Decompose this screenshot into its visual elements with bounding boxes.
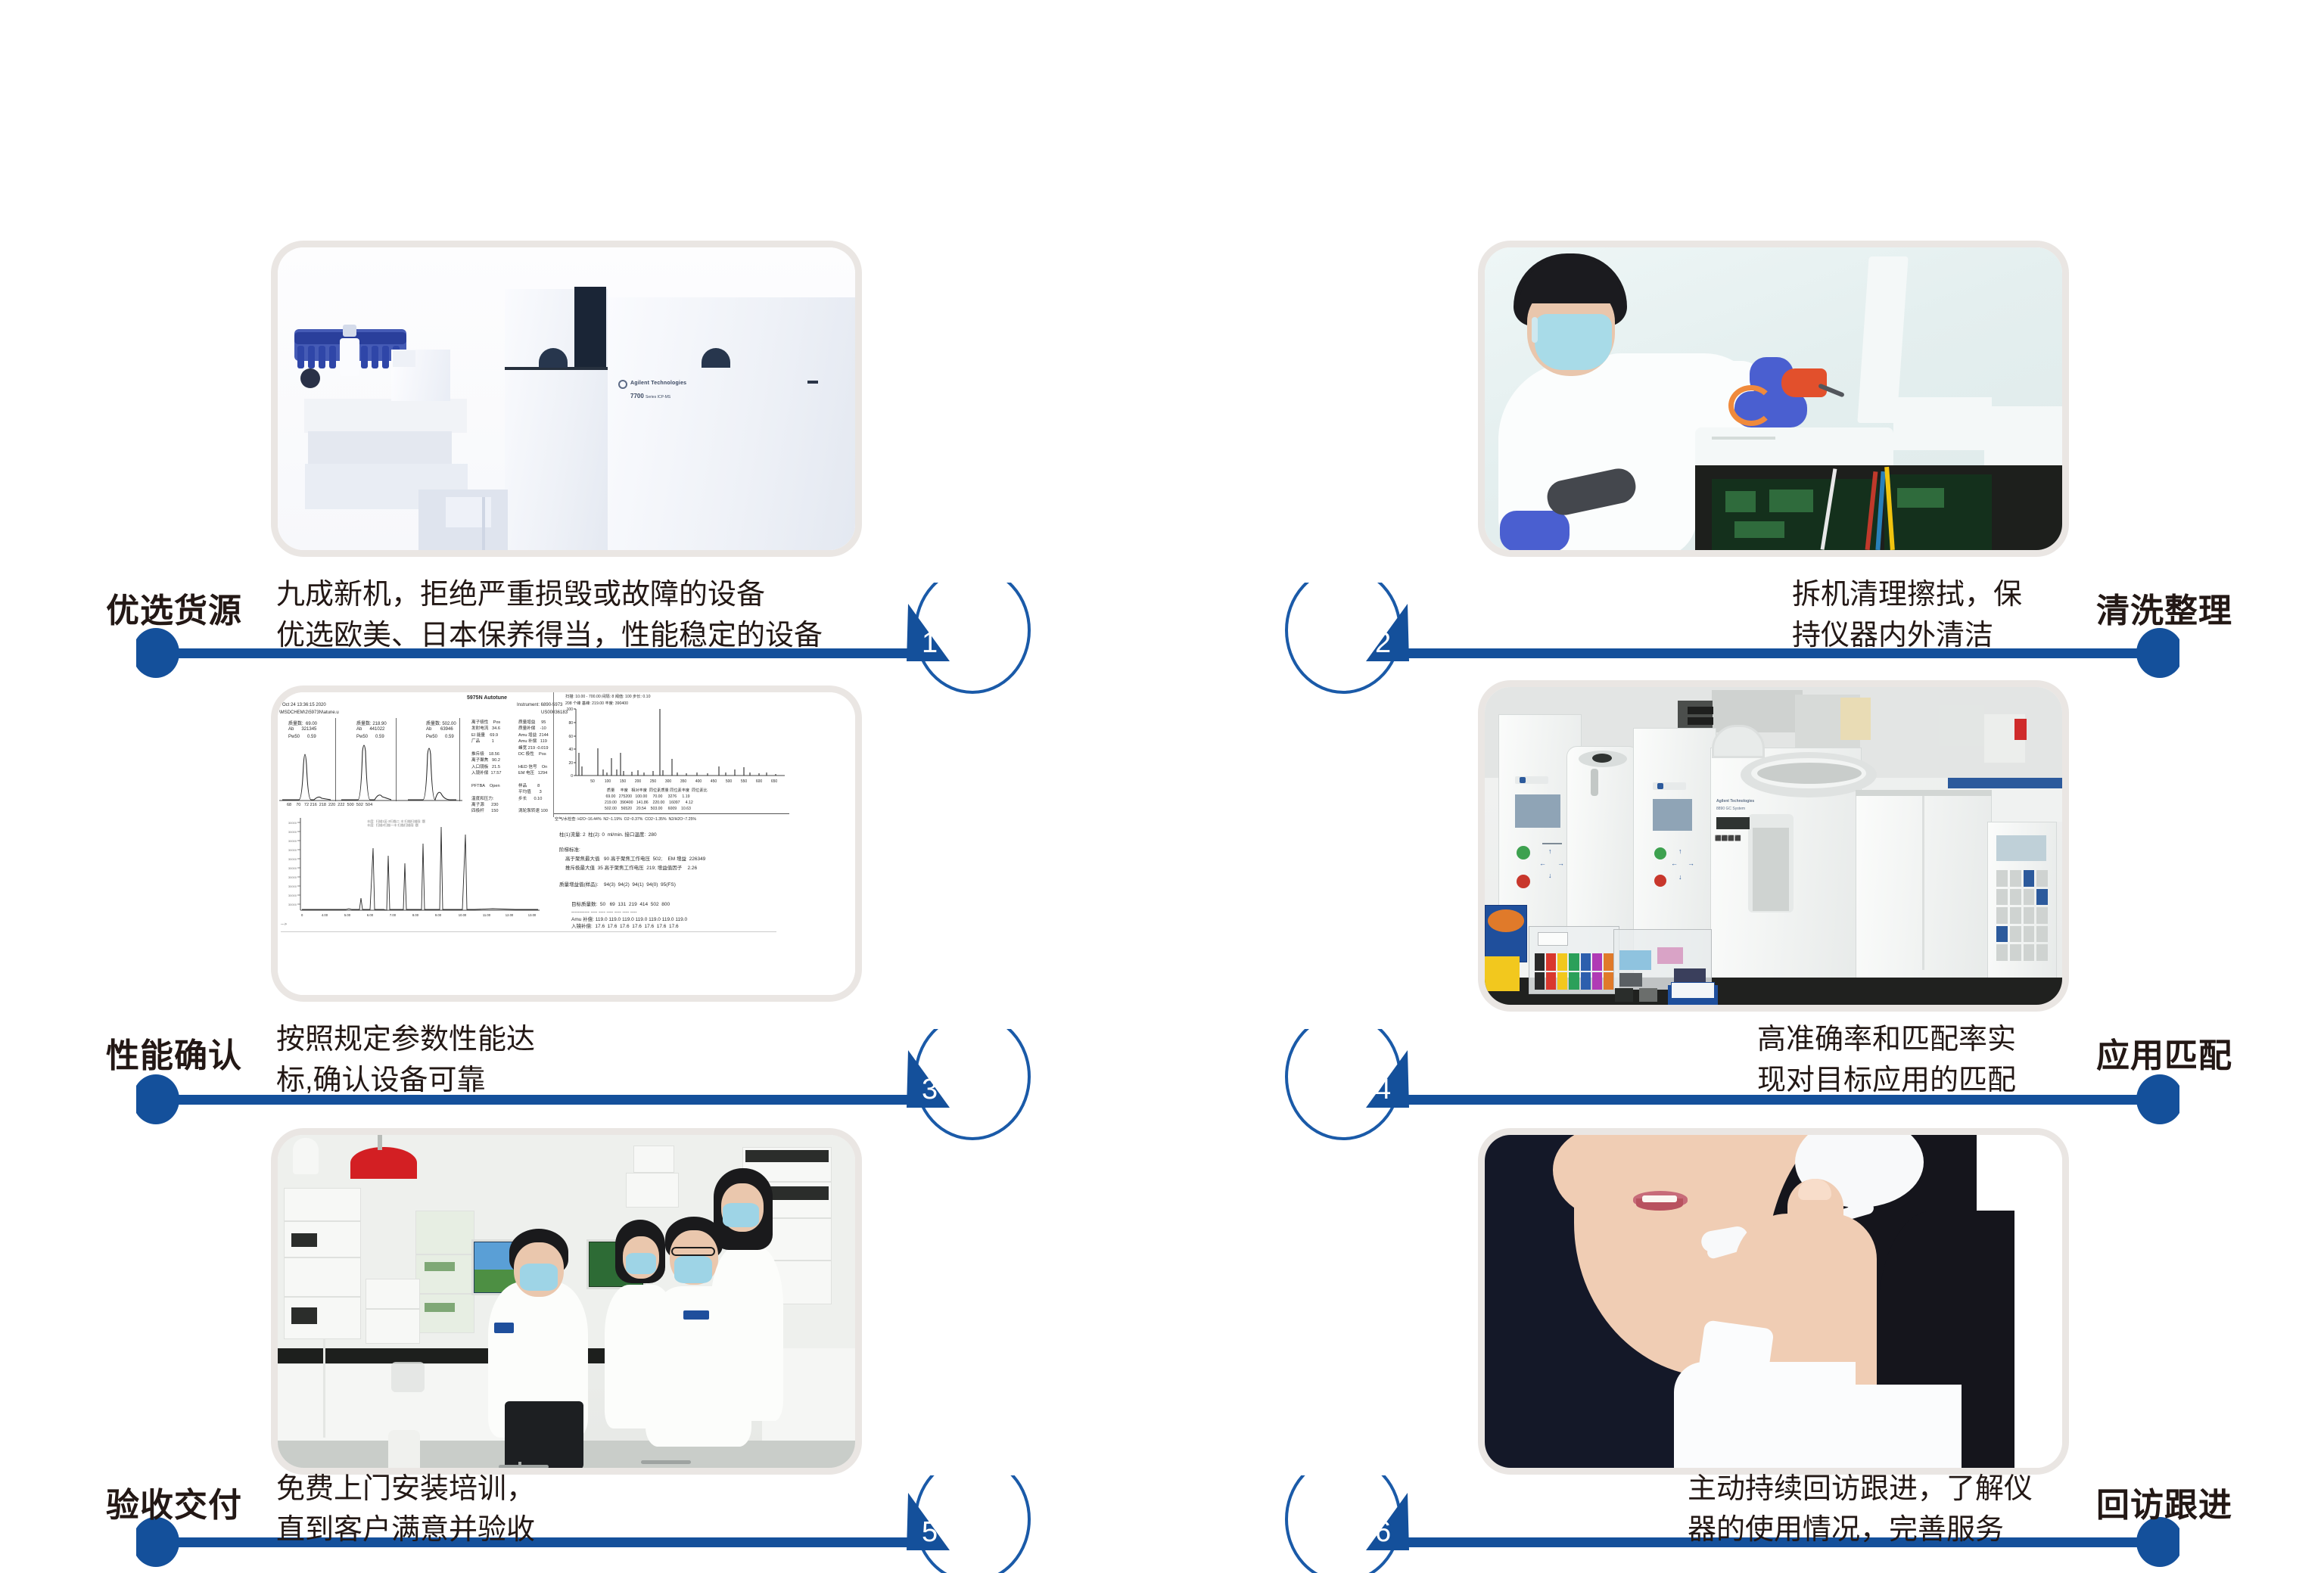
step-number-2: 2 [1375,627,1391,659]
chromatogram-footer-arrow: ---> [281,922,287,927]
step-title-1: 优选货源 [106,593,242,630]
tune-axis-ticks: 68 70 72 216 218 220 222 500 502 504 [287,803,372,807]
svg-text:550: 550 [741,779,748,784]
step-photo-4: ↑ ← → ↓ ↑ ← → ↓ [1485,687,2062,1005]
arrow-graphic-3: 3 [136,1029,1044,1142]
svg-text:30000: 30000 [288,839,297,843]
step-number-3: 3 [922,1074,938,1105]
report-header-title: 5975N Autotune [467,695,507,701]
report-params-right: 质量增益 95 质量补偿 -10 Amu 增益 2144 Amu 补偿 119 … [518,720,549,815]
svg-text:11.00: 11.00 [483,913,491,917]
spectrum-header: 扫描: 10.00 - 700.00 间隔: 8 阈值: 100 步长: 0.1… [565,694,650,699]
svg-text:100: 100 [605,779,611,784]
step-title-3: 性能确认 [106,1038,242,1074]
svg-text:200: 200 [635,779,642,784]
svg-text:30000: 30000 [288,894,297,897]
step-number-5: 5 [922,1516,938,1548]
step-desc-4: 高准确率和匹配率实 现对目标应用的匹配 [1757,1020,2016,1102]
step-title-5: 验收交付 [106,1488,242,1524]
stage-line-1: 高于聚焦最大值 90 高于聚焦工作电压 502; EM 增益 226349 [565,854,705,862]
svg-text:650: 650 [771,779,778,784]
report-timestamp: Oct 24 13:36:15 2020 [282,703,326,707]
svg-text:7.00: 7.00 [390,913,397,917]
svg-text:8.00: 8.00 [412,913,419,917]
svg-text:13.00: 13.00 [528,913,537,917]
step-desc-5: 免费上门安装培训， 直到客户满意并验收 [276,1469,535,1551]
arrow-graphic-4: 4 [1271,1029,2179,1142]
step-title-4: 应用匹配 [2096,1038,2232,1074]
svg-text:0: 0 [301,913,303,917]
svg-text:50: 50 [590,779,595,784]
step-photo-2 [1485,247,2062,550]
step-desc-6: 主动持续回访跟进，了解仪 器的使用情况，完善服务 [1688,1469,2033,1551]
report-params-left: 离子极性 Pos 发射电流 34.6 EI 能量 69.9 厂品 1 推斥极 1… [471,720,501,815]
step-photo-5 [278,1135,855,1468]
arrow-graphic-5: 5 [136,1475,1044,1573]
svg-text:350: 350 [680,779,687,784]
air-water-check: 空气/水检查: H2O~16.44% N2~1.19% O2~0.37% CO2… [555,816,696,822]
svg-text:12.00: 12.00 [506,913,514,917]
step-connector-5: 5 [136,1475,1044,1573]
mass-spectrum-graph: 1008060 40200 [564,706,791,789]
column-flow: 柱(1)流量: 2 柱(2): 0 ml/min. 接口温度: 280 [559,830,657,838]
svg-text:500: 500 [726,779,733,784]
chromatogram-graph: 300003000030000 300003000030000 30000300… [281,813,544,921]
svg-text:30000: 30000 [288,866,297,870]
stage-line-2: 推斥极最大值 35 高于聚焦工作电压 219; 增益值因子 2.26 [565,863,697,871]
svg-text:30000: 30000 [288,875,297,879]
step-desc-3: 按照规定参数性能达 标,确认设备可靠 [276,1020,535,1102]
step-number-1: 1 [922,627,938,659]
step-title-6: 回访跟进 [2096,1488,2232,1524]
spectrum-subheader: 208 个峰 基峰: 219.00 丰度: 390400 [565,701,628,706]
step-connector-3: 3 [136,1029,1044,1142]
step-photo-1: Agilent Technologies 7700 Series ICP-MS [278,247,855,550]
report-instrument: Instrument: 6890-5973 [517,703,562,707]
mass-gain-line: 质量增益值(样品): 94(3) 94(2) 94(1) 94(0) 95(FS… [559,880,676,888]
svg-text:150: 150 [620,779,627,784]
svg-text:10.00: 10.00 [459,913,467,917]
svg-text:9.00: 9.00 [435,913,442,917]
svg-text:30000: 30000 [288,884,297,888]
svg-text:30000: 30000 [288,857,297,861]
svg-text:300: 300 [665,779,672,784]
svg-text:60: 60 [568,735,573,739]
svg-text:20: 20 [568,761,573,766]
step-desc-1: 九成新机，拒绝严重损毁或故障的设备 优选欧美、日本保养得当，性能稳定的设备 [276,575,823,657]
svg-text:4.00: 4.00 [322,913,328,917]
tune-peaks-graph [278,715,467,804]
target-mass-block: 目标质量数: 50 69 131 219 414 502 800 -------… [571,901,687,931]
stage-title: 阶梯标准: [559,845,580,853]
svg-text:40: 40 [568,748,573,752]
svg-text:400: 400 [695,779,702,784]
svg-text:30000: 30000 [288,830,297,834]
svg-text:80: 80 [568,721,573,726]
svg-text:6.00: 6.00 [367,913,374,917]
spectrum-table: 质量 丰度 相对丰度 同位素质量 同位素丰度 同位素比 69.00 275200… [605,788,708,812]
svg-text:600: 600 [756,779,763,784]
step-photo-6 [1485,1135,2062,1468]
svg-text:30000: 30000 [288,821,297,825]
step-title-2: 清洗整理 [2096,593,2232,630]
svg-text:5.00: 5.00 [344,913,351,917]
step-number-6: 6 [1375,1516,1391,1548]
infographic-page: Agilent Technologies 7700 Series ICP-MS [0,0,2324,1573]
svg-text:0: 0 [571,774,573,779]
svg-text:30000: 30000 [288,848,297,852]
step-connector-4: 4 [1271,1029,2179,1142]
svg-text:450: 450 [711,779,717,784]
svg-text:100: 100 [567,707,574,712]
step-connector-2: 2 [1271,583,2179,696]
svg-text:30000: 30000 [288,903,297,906]
svg-text:250: 250 [650,779,657,784]
arrow-graphic-2: 2 [1271,583,2179,696]
step-photo-3: 5975N Autotune Oct 24 13:36:15 2020 \MSD… [278,692,855,995]
step-number-4: 4 [1375,1074,1391,1105]
step-desc-2: 拆机清理擦拭，保 持仪器内外清洁 [1792,575,2022,657]
